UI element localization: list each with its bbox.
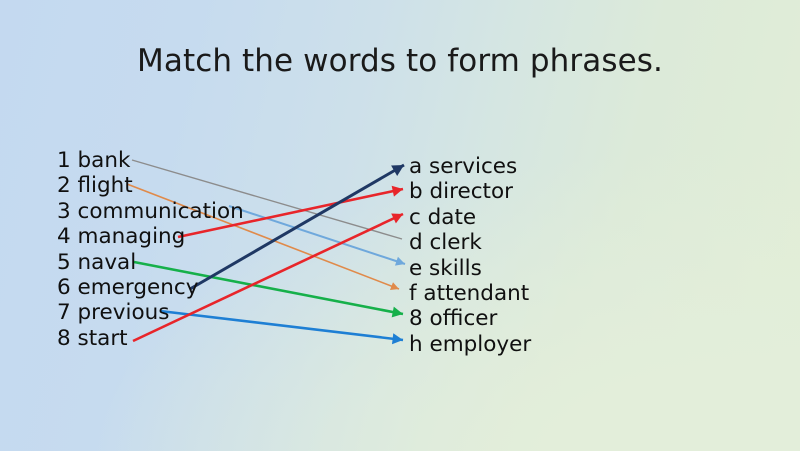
arrowhead-icon bbox=[392, 333, 403, 344]
left-item-4[interactable]: 4 managing bbox=[57, 224, 244, 249]
arrowhead-icon bbox=[391, 165, 404, 176]
left-word-column: 1 bank 2 flight 3 communication 4 managi… bbox=[57, 148, 244, 351]
right-word-column: a services b director c date d clerk e s… bbox=[409, 154, 531, 357]
left-item-7[interactable]: 7 previous bbox=[57, 300, 244, 325]
arrowhead-icon bbox=[390, 282, 399, 290]
arrowhead-icon bbox=[392, 186, 403, 197]
left-item-3[interactable]: 3 communication bbox=[57, 199, 244, 224]
right-item-h[interactable]: h employer bbox=[409, 332, 531, 357]
arrowhead-icon bbox=[391, 213, 403, 223]
page-title: Match the words to form phrases. bbox=[0, 42, 800, 80]
left-item-1[interactable]: 1 bank bbox=[57, 148, 244, 173]
arrowhead-icon bbox=[395, 257, 405, 266]
right-item-c[interactable]: c date bbox=[409, 205, 531, 230]
right-item-d[interactable]: d clerk bbox=[409, 230, 531, 255]
right-item-b[interactable]: b director bbox=[409, 179, 531, 204]
left-item-5[interactable]: 5 naval bbox=[57, 250, 244, 275]
right-item-f[interactable]: f attendant bbox=[409, 281, 531, 306]
right-item-g[interactable]: 8 officer bbox=[409, 306, 531, 331]
left-item-6[interactable]: 6 emergency bbox=[57, 275, 244, 300]
connector-line bbox=[229, 206, 405, 266]
slide-canvas: Match the words to form phrases. 1 bank … bbox=[0, 0, 800, 451]
left-item-2[interactable]: 2 flight bbox=[57, 173, 244, 198]
left-item-8[interactable]: 8 start bbox=[57, 326, 244, 351]
right-item-e[interactable]: e skills bbox=[409, 256, 531, 281]
right-item-a[interactable]: a services bbox=[409, 154, 531, 179]
arrowhead-icon bbox=[392, 307, 403, 318]
